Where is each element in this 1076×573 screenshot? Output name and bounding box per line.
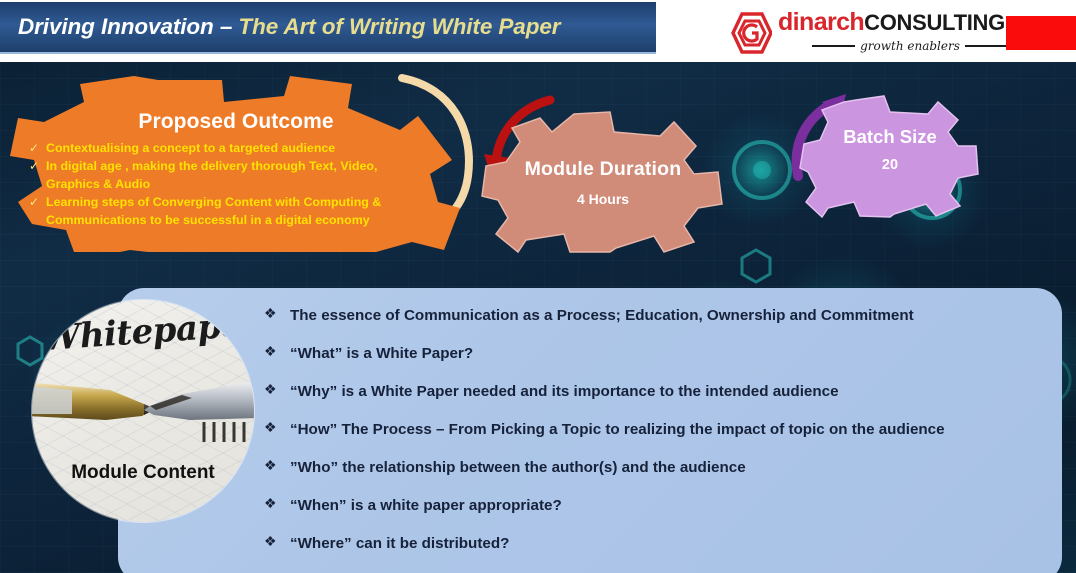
gear-shape-salmon-icon <box>478 108 728 253</box>
list-item: ❖“How” The Process – From Picking a Topi… <box>264 420 1054 439</box>
list-item-text: “Where” can it be distributed? <box>290 535 509 552</box>
page-title: Driving Innovation – The Art of Writing … <box>0 14 560 40</box>
list-item-text: “What” is a White Paper? <box>290 345 473 362</box>
batch-size-gear: Batch Size 20 <box>798 94 982 219</box>
list-item-text: “Why” is a White Paper needed and its im… <box>290 383 839 400</box>
diamond-bullet-icon: ❖ <box>264 343 277 361</box>
list-item: ❖“What” is a White Paper? <box>264 344 1054 363</box>
tagline-rule-right <box>965 45 1008 47</box>
diamond-bullet-icon: ❖ <box>264 457 277 475</box>
module-content-label: Module Content <box>32 462 254 484</box>
gear-shape-purple-icon <box>798 94 982 219</box>
diamond-bullet-icon: ❖ <box>264 495 277 513</box>
list-item: ❖“Why” is a White Paper needed and its i… <box>264 382 1054 401</box>
list-item-text: ”Who” the relationship between the autho… <box>290 459 746 476</box>
logo-wordmark: dinarchCONSULTING <box>778 10 1005 35</box>
module-content-bullet-list: ❖The essence of Communication as a Proce… <box>264 306 1054 572</box>
list-item: ❖“When” is a white paper appropriate? <box>264 496 1054 515</box>
logo-tagline-row: growth enablers <box>812 38 1008 54</box>
tagline-rule-left <box>812 45 855 47</box>
module-content-panel: ❖The essence of Communication as a Proce… <box>118 288 1062 573</box>
list-item-text: “How” The Process – From Picking a Topic… <box>290 421 945 438</box>
diamond-bullet-icon: ❖ <box>264 305 277 323</box>
logo-name-regular: CONSULTING <box>864 10 1005 35</box>
list-item: ❖“Where” can it be distributed? <box>264 534 1054 553</box>
red-accent-block <box>1006 16 1076 50</box>
brand-logo[interactable]: dinarchCONSULTING growth enablers <box>728 9 1008 57</box>
pen-nibs-photo-icon <box>32 364 254 454</box>
diamond-bullet-icon: ❖ <box>264 381 277 399</box>
module-duration-gear: Module Duration 4 Hours <box>478 108 728 253</box>
list-item: ❖The essence of Communication as a Proce… <box>264 306 1054 325</box>
list-item: ❖”Who” the relationship between the auth… <box>264 458 1054 477</box>
logo-name-bold: dinarch <box>778 8 864 36</box>
diamond-bullet-icon: ❖ <box>264 419 277 437</box>
slide-title-bar: Driving Innovation – The Art of Writing … <box>0 2 656 54</box>
list-item-text: “When” is a white paper appropriate? <box>290 497 562 514</box>
proposed-outcome-gear: Proposed Outcome ✓Contextualising a conc… <box>8 74 464 254</box>
gear-shape-orange-icon <box>8 74 464 254</box>
logo-tagline: growth enablers <box>860 39 960 53</box>
diamond-bullet-icon: ❖ <box>264 533 277 551</box>
title-secondary: The Art of Writing White Paper <box>238 14 560 39</box>
slide-canvas: B Proposed Outcome ✓Contextualising a co… <box>0 0 1076 573</box>
header-band: Driving Innovation – The Art of Writing … <box>0 0 1076 62</box>
title-primary: Driving Innovation – <box>18 14 238 39</box>
whitepaper-image-circle: Whitepaper <box>32 300 254 522</box>
hexagon-d-logo-icon <box>728 12 772 54</box>
list-item-text: The essence of Communication as a Proces… <box>290 307 914 324</box>
